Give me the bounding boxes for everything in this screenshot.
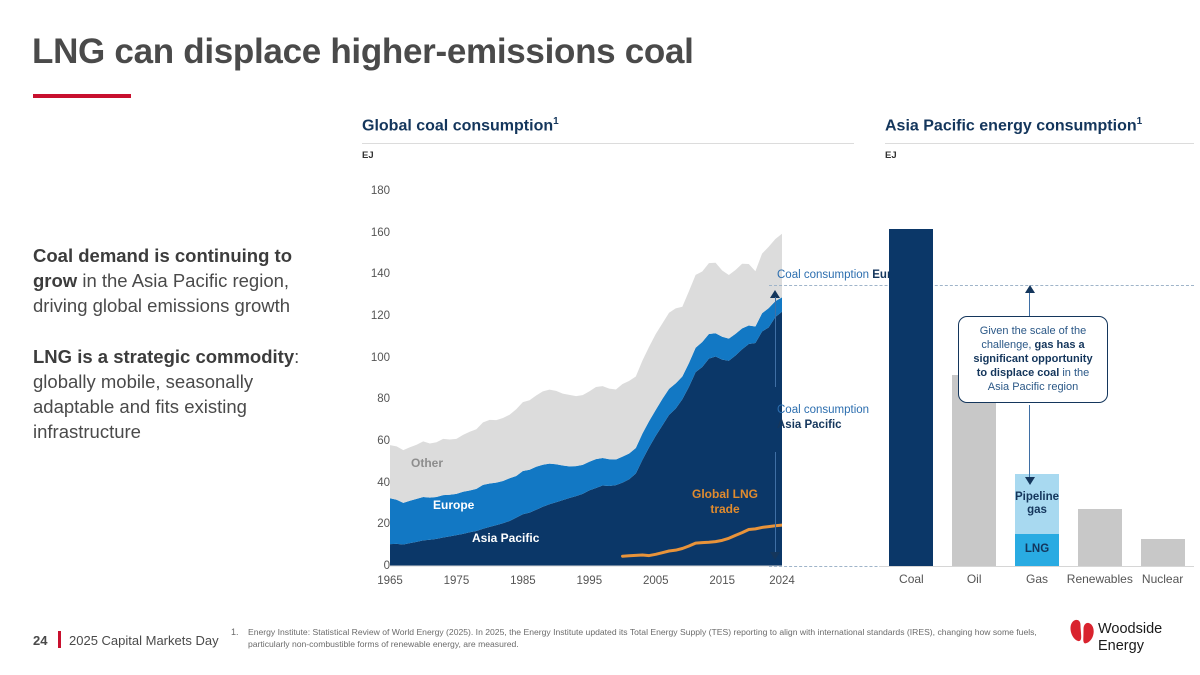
bar-category-label-renewables: Renewables (1067, 572, 1133, 586)
left-chart-title-footnote-ref: 1 (553, 116, 559, 127)
page-title: LNG can displace higher-emissions coal (32, 32, 694, 72)
arrow-down-icon-callout (1025, 477, 1035, 485)
narrative-p2-bold: LNG is a strategic commodity (33, 346, 294, 367)
arrow-shaft-europe (775, 297, 776, 387)
bar-renewables (1078, 509, 1122, 566)
left-chart-x-axis: 1965197519851995200520152024 (0, 575, 1200, 591)
narrative-paragraph-1: Coal demand is continuing to grow in the… (33, 243, 323, 318)
logo-line-1: Woodside (1098, 621, 1162, 638)
series-label-global-lng-trade: Global LNG trade (692, 487, 758, 517)
bar-category-label-coal: Coal (899, 572, 924, 586)
narrative-spacer (33, 318, 323, 344)
series-label-asia-pacific: Asia Pacific (472, 531, 539, 545)
title-accent-rule (33, 94, 131, 98)
x-tick-2024: 2024 (769, 575, 795, 587)
bar-segment-lng: LNG (1015, 534, 1059, 566)
right-chart-title-text: Asia Pacific energy consumption (885, 117, 1137, 134)
global-coal-consumption-chart (362, 170, 782, 580)
bar-nuclear (1141, 539, 1185, 566)
right-chart-title: Asia Pacific energy consumption1 (885, 116, 1142, 135)
right-chart-baseline (880, 566, 1194, 567)
page-number: 24 (33, 633, 47, 648)
anno-asia-bold: Asia Pacific (777, 419, 842, 431)
callout-connector-bottom (1029, 405, 1030, 477)
bar-category-label-oil: Oil (967, 572, 982, 586)
x-tick-1965: 1965 (377, 575, 403, 587)
footnote-text: Energy Institute: Statistical Review of … (248, 626, 1038, 650)
footer-divider (58, 631, 61, 648)
bar-category-label-nuclear: Nuclear (1142, 572, 1183, 586)
woodside-flame-icon (1068, 619, 1096, 649)
x-tick-1985: 1985 (510, 575, 536, 587)
left-chart-title-text: Global coal consumption (362, 117, 553, 134)
logo-line-2: Energy (1098, 638, 1162, 655)
woodside-energy-logo: Woodside Energy (1068, 619, 1188, 663)
area-chart-svg (362, 170, 782, 580)
bar-category-label-gas: Gas (1026, 572, 1048, 586)
x-tick-1975: 1975 (444, 575, 470, 587)
lng-label-line-2: trade (710, 502, 739, 516)
arrow-down-icon-asia (770, 552, 780, 560)
right-chart-title-rule (885, 143, 1194, 144)
bar-coal (889, 229, 933, 566)
narrative-text: Coal demand is continuing to grow in the… (33, 243, 323, 444)
logo-wordmark: Woodside Energy (1098, 621, 1162, 655)
series-label-other: Other (411, 456, 443, 470)
arrow-up-icon-callout (1025, 285, 1035, 293)
bar-segment-pipeline-gas: Pipeline gas (1015, 474, 1059, 533)
anno-europe-plain: Coal consumption (777, 269, 872, 281)
anno-asia-plain: Coal consumption (777, 404, 869, 416)
right-chart-title-footnote-ref: 1 (1137, 116, 1143, 127)
bar-gas: Pipeline gasLNG (1015, 474, 1059, 566)
callout-gas-opportunity: Given the scale of the challenge, gas ha… (958, 316, 1108, 403)
series-label-europe: Europe (433, 498, 474, 512)
left-chart-unit-label: EJ (362, 150, 374, 161)
lng-label-line-1: Global LNG (692, 487, 758, 501)
left-chart-title: Global coal consumption1 (362, 116, 559, 135)
bar-oil (952, 375, 996, 566)
x-tick-2015: 2015 (709, 575, 735, 587)
x-tick-1995: 1995 (577, 575, 603, 587)
arrow-shaft-asia (775, 452, 776, 552)
x-tick-2005: 2005 (643, 575, 669, 587)
footer-event-label: 2025 Capital Markets Day (69, 633, 219, 648)
footnote-marker: 1. (231, 627, 239, 637)
right-chart-unit-label: EJ (885, 150, 897, 161)
annotation-coal-consumption-asia-pacific: Coal consumptionAsia Pacific (777, 403, 869, 433)
narrative-paragraph-2: LNG is a strategic commodity: globally m… (33, 344, 323, 444)
left-chart-title-rule (362, 143, 854, 144)
